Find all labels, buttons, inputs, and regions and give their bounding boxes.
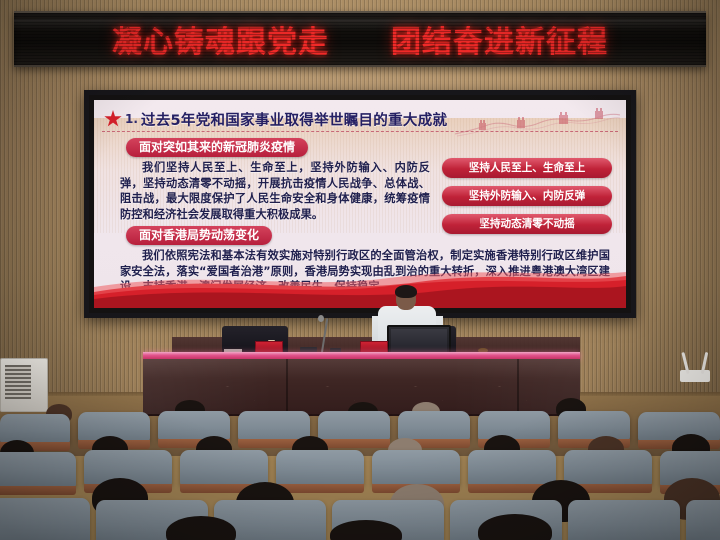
microphone-head-icon: [318, 315, 324, 322]
badge-people-first: 坚持人民至上、生命至上: [442, 158, 612, 178]
seat: [564, 450, 652, 486]
slide-title: 过去5年党和国家事业取得举世瞩目的重大成就: [141, 109, 447, 130]
seat: [276, 450, 364, 486]
air-conditioner: [0, 358, 48, 412]
seat: [180, 450, 268, 486]
slide-title-number: 1.: [125, 112, 138, 126]
seat: [558, 411, 630, 441]
seat: [468, 450, 556, 486]
badge-import-rebound: 坚持外防输入、内防反弹: [442, 186, 612, 206]
slide-title-row: 1. 过去5年党和国家事业取得举世瞩目的重大成就: [104, 106, 616, 132]
table-seam: [517, 359, 519, 414]
section-header-epidemic: 面对突如其来的新冠肺炎疫情: [126, 138, 308, 157]
speaker-hair: [395, 285, 417, 298]
led-banner: 凝心铸魂跟党走 团结奋进新征程: [14, 11, 706, 67]
title-divider: [102, 131, 618, 132]
seat: [372, 450, 460, 486]
seat: [0, 498, 90, 540]
seat: [398, 411, 470, 441]
red-star-icon: [104, 110, 122, 128]
section-header-hongkong: 面对香港局势动荡变化: [126, 226, 272, 245]
badge-dynamic-zero: 坚持动态清零不动摇: [442, 214, 612, 234]
conference-hall-photo: 凝心铸魂跟党走 团结奋进新征程 1. 过去5年党和国家事业取得举世瞩目的重大成就: [0, 0, 720, 540]
seat: [318, 411, 390, 441]
table-seam: [286, 359, 288, 414]
seat: [686, 500, 720, 540]
seat: [0, 414, 70, 444]
led-banner-text: 凝心铸魂跟党走 团结奋进新征程: [14, 13, 706, 65]
ac-vent-grille: [5, 365, 31, 399]
seat: [0, 452, 76, 488]
projector-screen: 1. 过去5年党和国家事业取得举世瞩目的重大成就 面对突如其来的新冠肺炎疫情 我…: [84, 90, 636, 318]
slide-red-ribbon: [94, 266, 626, 308]
wifi-router: [680, 370, 710, 382]
seat: [568, 500, 680, 540]
section-body-epidemic: 我们坚持人民至上、生命至上，坚持外防输入、内防反弹，坚持动态清零不动摇，开展抗击…: [120, 160, 430, 222]
seat: [478, 411, 550, 441]
seat: [238, 411, 310, 441]
presentation-slide: 1. 过去5年党和国家事业取得举世瞩目的重大成就 面对突如其来的新冠肺炎疫情 我…: [94, 100, 626, 308]
